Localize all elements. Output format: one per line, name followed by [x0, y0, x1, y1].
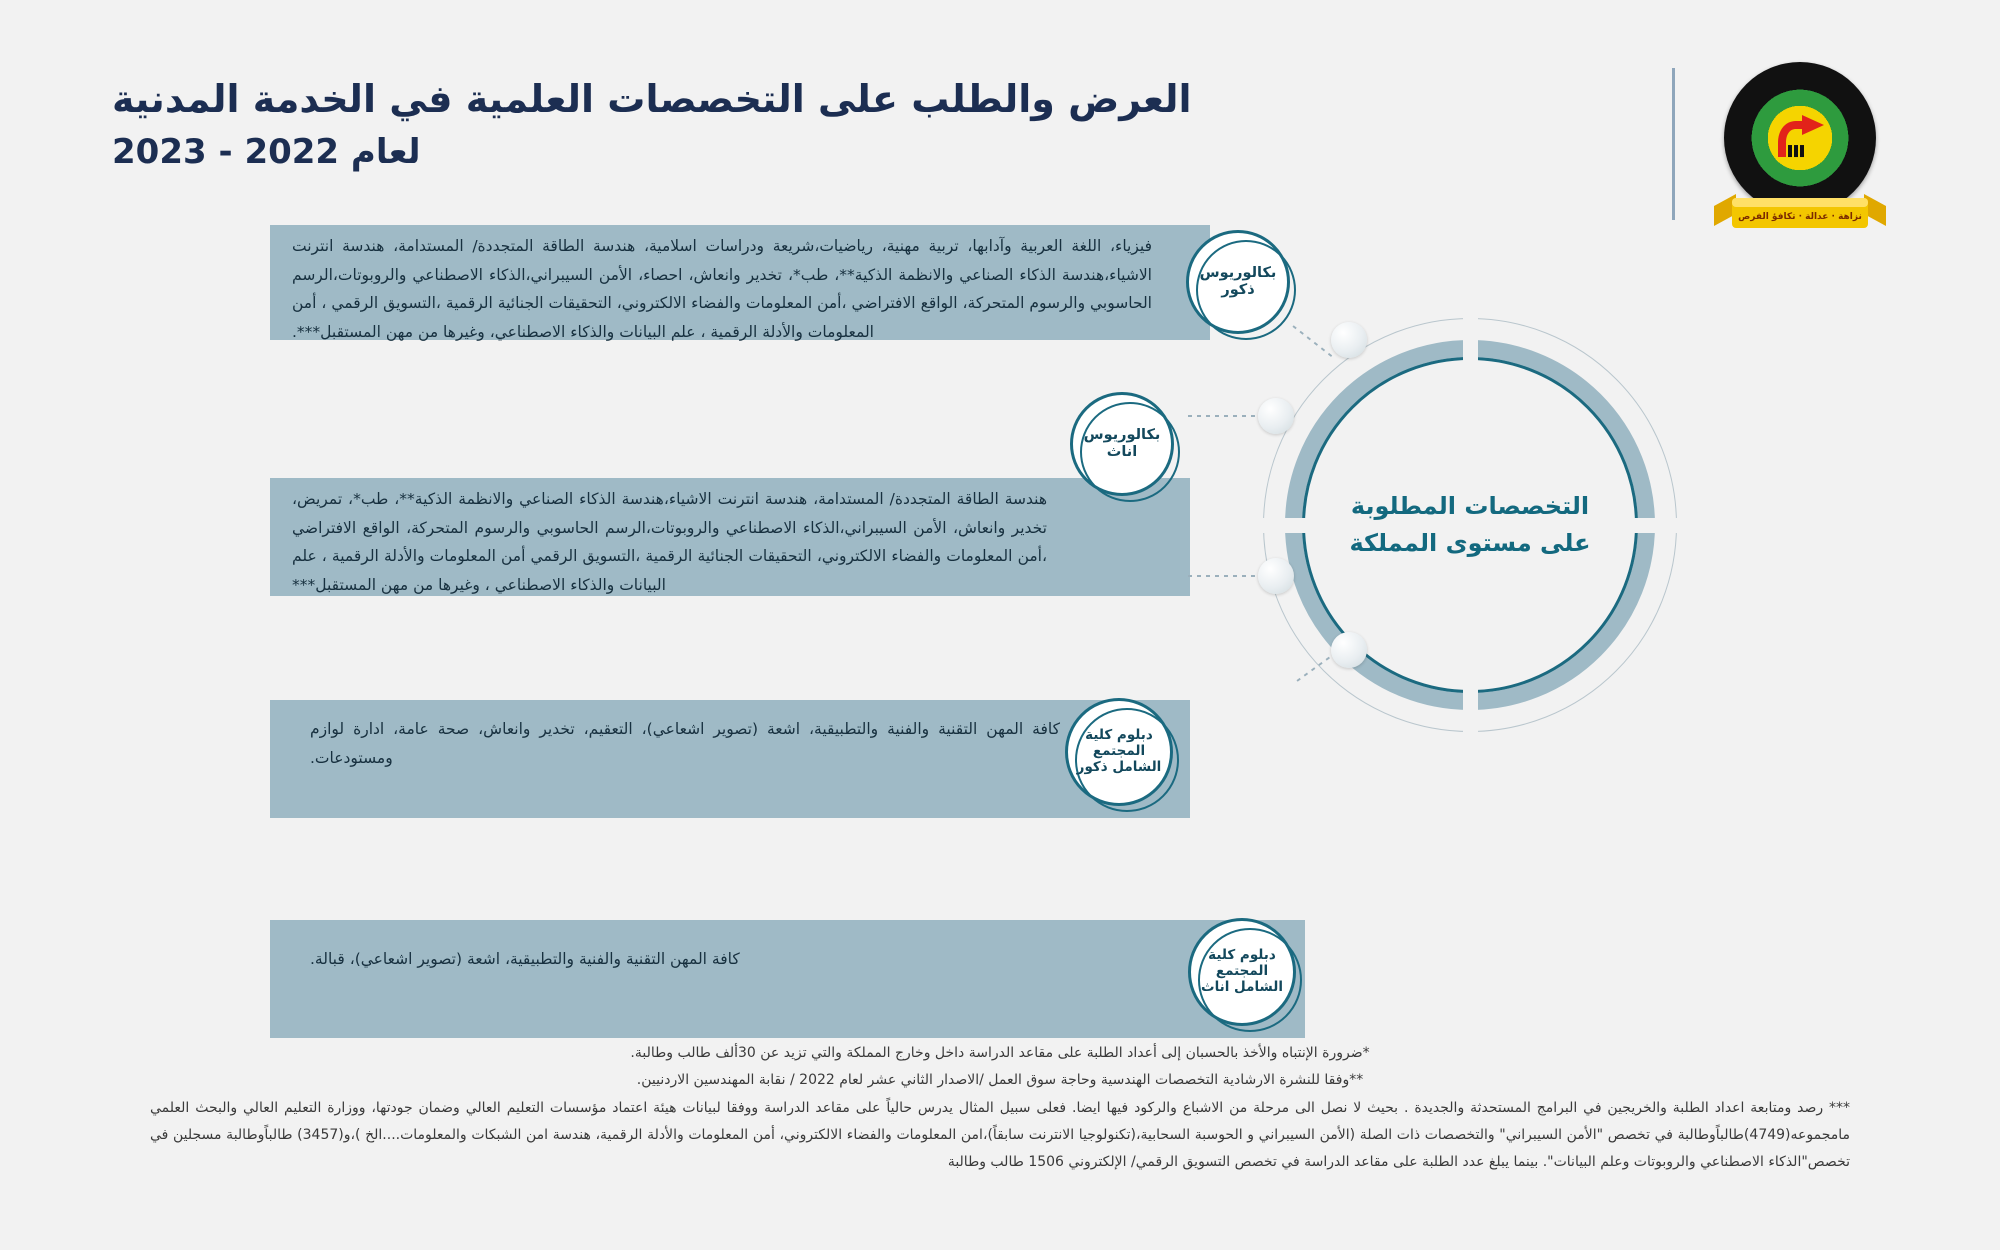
connector-bead-2: [1258, 398, 1294, 434]
branch-bar-4: [270, 920, 1305, 1038]
branch-node-3-label: دبلوم كلية المجتمع الشامل ذكور: [1068, 728, 1170, 776]
diagram: التخصصات المطلوبة على مستوى المملكة فيزي…: [0, 240, 2000, 1030]
footnote-1: *ضرورة الإنتباه والأخذ بالحسبان إلى أعدا…: [150, 1040, 1850, 1067]
infographic-canvas: العرض والطلب على التخصصات العلمية في الخ…: [0, 0, 2000, 1250]
ring-center-line2: على مستوى المملكة: [1349, 525, 1590, 562]
branch-text-3: كافة المهن التقنية والفنية والتطبيقية، ا…: [310, 715, 1060, 772]
footnote-3: *** رصد ومتابعة اعداد الطلبة والخريجين ف…: [150, 1095, 1850, 1177]
branch-node-2[interactable]: بكالوريوس اناث: [1070, 392, 1174, 496]
branch-node-3[interactable]: دبلوم كلية المجتمع الشامل ذكور: [1065, 698, 1173, 806]
title-block: العرض والطلب على التخصصات العلمية في الخ…: [112, 76, 1282, 172]
connector-bead-4: [1331, 632, 1367, 668]
branch-text-1: فيزياء، اللغة العربية وآدابها، تربية مهن…: [292, 232, 1152, 347]
branch-text-2: هندسة الطاقة المتجددة/ المستدامة، هندسة …: [292, 485, 1047, 600]
logo-ribbon-text: نزاهة · عدالة · تكافؤ الفرص: [1710, 212, 1890, 222]
branch-node-1-label: بكالوريوس ذكور: [1195, 265, 1282, 300]
branch-node-4-label: دبلوم كلية المجتمع الشامل اناث: [1191, 948, 1293, 996]
connector-bead-3: [1258, 558, 1294, 594]
header: العرض والطلب على التخصصات العلمية في الخ…: [0, 28, 2000, 228]
branch-node-2-label: بكالوريوس اناث: [1079, 427, 1166, 462]
ring-center-line1: التخصصات المطلوبة: [1351, 488, 1589, 525]
civil-service-bureau-logo: نزاهة · عدالة · تكافؤ الفرص: [1710, 60, 1890, 246]
footnotes: *ضرورة الإنتباه والأخذ بالحسبان إلى أعدا…: [150, 1040, 1850, 1176]
page-subtitle-year: لعام 2022 - 2023: [112, 132, 1282, 172]
branch-node-1[interactable]: بكالوريوس ذكور: [1186, 230, 1290, 334]
page-title: العرض والطلب على التخصصات العلمية في الخ…: [112, 76, 1282, 124]
branch-node-4[interactable]: دبلوم كلية المجتمع الشامل اناث: [1188, 918, 1296, 1026]
header-divider: [1672, 68, 1675, 220]
connector-bead-1: [1331, 322, 1367, 358]
logo-hand-icon: [1772, 113, 1828, 161]
branch-text-4: كافة المهن التقنية والفنية والتطبيقية، ا…: [310, 945, 1150, 974]
footnote-2: **وفقا للنشرة الارشادية التخصصات الهندسي…: [150, 1067, 1850, 1094]
